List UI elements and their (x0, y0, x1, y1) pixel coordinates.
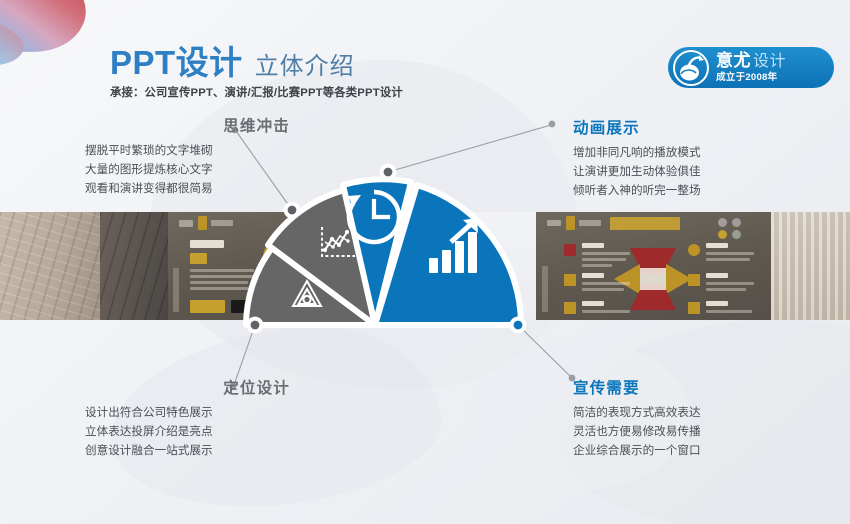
brand-logo-text: 意尤 设计 成立于2008年 (716, 52, 786, 83)
callout-dingwei-sheji: 定位设计 设计出符合公司特色展示 立体表达投屏介绍是亮点 创意设计融合一站式展示 (85, 380, 320, 460)
fan-node-left-base[interactable] (247, 317, 264, 334)
slide-canvas: PPT设计 立体介绍 承接：公司宣传PPT、演讲/汇报/比赛PPT等各类PPT设… (0, 0, 850, 524)
brand-name-thin: 设计 (753, 54, 786, 70)
page-title-main: PPT设计 (110, 46, 243, 79)
brand-name-bold: 意尤 (716, 52, 751, 69)
callout-xuanchuan-xuyao: 宣传需要 简洁的表现方式高效表达 灵活也方便易修改易传播 企业综合展示的一个窗口 (573, 380, 813, 460)
page-title: PPT设计 立体介绍 (110, 46, 355, 79)
callout-body: 摆脱平时繁琐的文字堆砌 大量的图形提炼核心文字 观看和演讲变得都很简易 (85, 142, 320, 198)
callout-body: 增加非同凡响的播放模式 让演讲更加生动体验俱佳 倾听者入神的听完一整场 (573, 144, 813, 200)
callout-body: 简洁的表现方式高效表达 灵活也方便易修改易传播 企业综合展示的一个窗口 (573, 404, 813, 460)
callout-heading: 动画展示 (573, 120, 813, 137)
fan-node-upper-right[interactable] (380, 164, 397, 181)
page-subtitle: 承接：公司宣传PPT、演讲/汇报/比赛PPT等各类PPT设计 (110, 84, 403, 100)
photo-wood-dark (100, 212, 168, 320)
mouse-in-circle-icon (673, 50, 709, 86)
page-title-sub: 立体介绍 (255, 55, 355, 79)
connector-endpoint-top-right (549, 121, 556, 128)
callout-donghua-zhanshi: 动画展示 增加非同凡响的播放模式 让演讲更加生动体验俱佳 倾听者入神的听完一整场 (573, 120, 813, 200)
brand-logo[interactable]: 意尤 设计 成立于2008年 (668, 47, 834, 88)
photo-building (771, 212, 850, 320)
callout-siwei-chongji: 思维冲击 摆脱平时繁琐的文字堆砌 大量的图形提炼核心文字 观看和演讲变得都很简易 (85, 118, 320, 198)
brand-since: 成立于2008年 (716, 73, 786, 83)
photo-wood-light (0, 212, 100, 320)
fan-node-upper-left[interactable] (284, 202, 301, 219)
callout-heading: 思维冲击 (85, 118, 320, 135)
callout-heading: 定位设计 (85, 380, 320, 397)
photo-slide-right (536, 212, 771, 320)
fan-node-right-base[interactable] (510, 317, 527, 334)
callout-heading: 宣传需要 (573, 380, 813, 397)
callout-body: 设计出符合公司特色展示 立体表达投屏介绍是亮点 创意设计融合一站式展示 (85, 404, 320, 460)
